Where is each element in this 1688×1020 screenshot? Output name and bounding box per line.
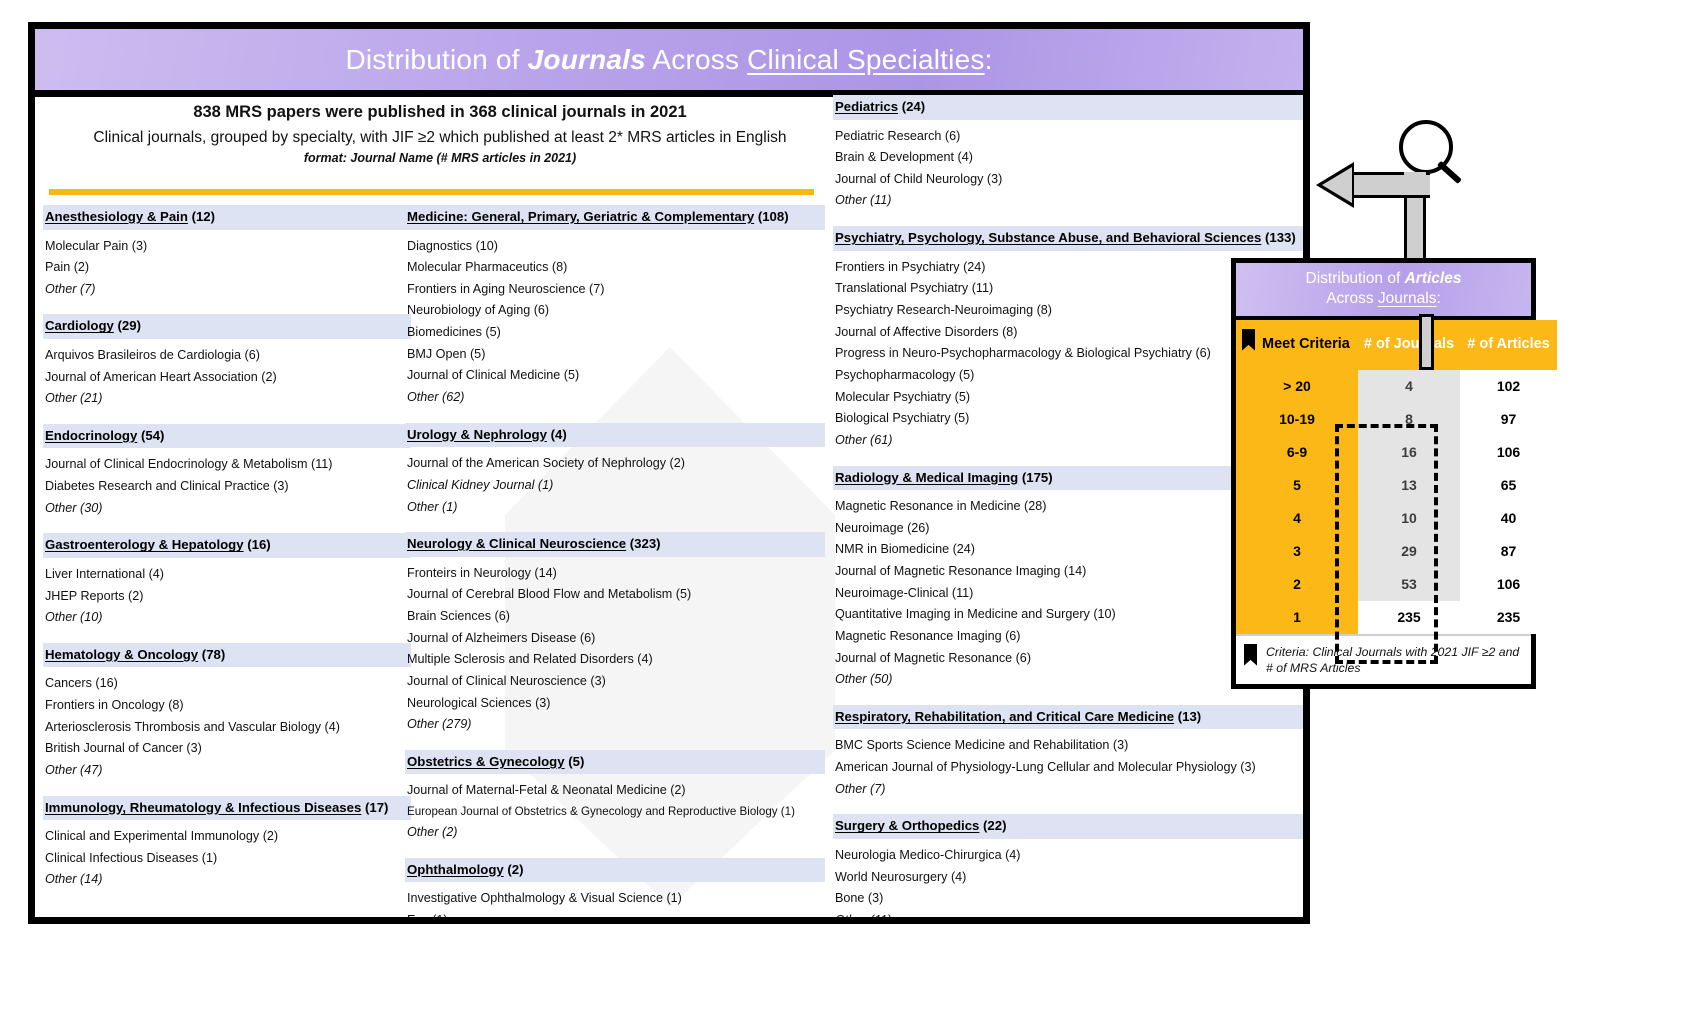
journal-entry: Other (7) [45,279,411,301]
journal-entry: Investigative Ophthalmology & Visual Sci… [407,888,825,910]
cell-meet-criteria: 1 [1236,601,1358,634]
journal-list: Arquivos Brasileiros de Cardiologia (6)J… [43,339,411,410]
inset-title: Distribution of Articles Across Journals… [1236,263,1531,320]
journal-entry: Bone (3) [835,888,1303,910]
page-title: Distribution of Journals Across Clinical… [345,44,992,76]
specialty-section: Ophthalmology (2)Investigative Ophthalmo… [405,858,825,924]
table-row: 32987 [1236,535,1557,568]
journal-entry: Journal of Alzheimers Disease (6) [407,628,825,650]
specialty-count: (133) [1261,230,1295,245]
specialty-section: Immunology, Rheumatology & Infectious Di… [43,796,411,891]
specialty-header: Cardiology (29) [43,314,411,339]
cell-num-articles: 65 [1460,469,1557,502]
journal-entry: Pediatric Research (6) [835,126,1303,148]
specialty-section: Neurology & Clinical Neuroscience (323)F… [405,532,825,736]
specialty-name: Psychiatry, Psychology, Substance Abuse,… [835,230,1261,245]
articles-distribution-panel: Distribution of Articles Across Journals… [1231,258,1536,689]
specialty-name: Hematology & Oncology [45,647,198,662]
journal-entry: Cancers (16) [45,673,411,695]
specialty-count: (24) [898,99,925,114]
journal-entry: British Journal of Cancer (3) [45,738,411,760]
specialty-count: (16) [244,537,271,552]
table-row: 51365 [1236,469,1557,502]
column-header-meet-criteria: Meet Criteria [1236,320,1358,370]
specialty-name: Anesthesiology & Pain [45,209,188,224]
journal-entry: Molecular Pharmaceutics (8) [407,257,825,279]
specialty-name: Immunology, Rheumatology & Infectious Di… [45,800,361,815]
specialty-section: Pediatrics (24)Pediatric Research (6)Bra… [833,95,1303,212]
journal-list: Neurologia Medico-Chirurgica (4)World Ne… [833,839,1303,924]
poster-panel: Distribution of Journals Across Clinical… [28,22,1310,924]
journal-entry: Other (7) [835,779,1303,801]
journal-entry: Pain (2) [45,257,411,279]
specialty-column-1: Anesthesiology & Pain (12)Molecular Pain… [43,205,411,905]
cell-num-journals: 13 [1358,469,1460,502]
journal-list: Clinical and Experimental Immunology (2)… [43,820,411,891]
specialty-name: Obstetrics & Gynecology [407,754,565,769]
specialty-count: (4) [547,427,567,442]
journal-list: BMC Sports Science Medicine and Rehabili… [833,729,1303,800]
journal-list: Fronteirs in Neurology (14)Journal of Ce… [405,557,825,736]
table-row: 1235235 [1236,601,1557,634]
journal-entry: Arquivos Brasileiros de Cardiologia (6) [45,345,411,367]
specialty-section: Urology & Nephrology (4)Journal of the A… [405,423,825,518]
table-row: 10-19897 [1236,403,1557,436]
specialty-count: (78) [198,647,225,662]
journal-list: Journal of the American Society of Nephr… [405,447,825,518]
journal-entry: Brain Sciences (6) [407,606,825,628]
specialty-count: (13) [1174,709,1201,724]
title-mid: Across [646,44,747,75]
specialty-section: Medicine: General, Primary, Geriatric & … [405,205,825,409]
inset-title-mid: Across [1326,290,1378,307]
journal-entry: Other (1) [407,497,825,519]
journal-entry: Frontiers in Oncology (8) [45,695,411,717]
cell-meet-criteria: 6-9 [1236,436,1358,469]
title-post: : [985,44,993,75]
specialty-name: Endocrinology [45,428,137,443]
specialty-header: Neurology & Clinical Neuroscience (323) [405,532,825,557]
journal-entry: Molecular Pain (3) [45,236,411,258]
cell-num-articles: 235 [1460,601,1557,634]
specialty-header: Endocrinology (54) [43,424,411,449]
specialty-count: (5) [565,754,585,769]
table-row: 253106 [1236,568,1557,601]
specialty-name: Respiratory, Rehabilitation, and Critica… [835,709,1174,724]
journal-entry: Other (21) [45,388,411,410]
journal-list: Diagnostics (10)Molecular Pharmaceutics … [405,230,825,409]
journal-list: Pediatric Research (6)Brain & Developmen… [833,120,1303,213]
header-divider-tab [1419,314,1434,370]
callout-arrow-head-fill [1322,167,1352,203]
journal-entry: Journal of Clinical Endocrinology & Meta… [45,454,411,476]
journal-entry: Neurobiology of Aging (6) [407,300,825,322]
specialty-count: (108) [754,209,788,224]
table-row: > 204102 [1236,370,1557,403]
cell-num-articles: 102 [1460,370,1557,403]
specialty-count: (323) [626,536,660,551]
table-header-row: Meet Criteria # of Journals # of Article… [1236,320,1557,370]
specialty-header: Urology & Nephrology (4) [405,423,825,448]
specialty-name: Medicine: General, Primary, Geriatric & … [407,209,754,224]
journal-entry: Journal of Maternal-Fetal & Neonatal Med… [407,780,825,802]
cell-num-articles: 87 [1460,535,1557,568]
specialty-header: Respiratory, Rehabilitation, and Critica… [833,705,1303,730]
title-underlined: Clinical Specialties [747,44,984,75]
poster-body: 838 MRS papers were published in 368 cli… [35,97,1303,917]
cell-num-journals: 8 [1358,403,1460,436]
cell-meet-criteria: 4 [1236,502,1358,535]
specialty-name: Gastroenterology & Hepatology [45,537,244,552]
journal-list: Investigative Ophthalmology & Visual Sci… [405,882,825,924]
cell-num-journals: 235 [1358,601,1460,634]
title-emphasis: Journals [528,44,646,75]
inset-title-emphasis: Articles [1405,270,1462,287]
journal-entry: Fronteirs in Neurology (14) [407,563,825,585]
journal-entry: Multiple Sclerosis and Related Disorders… [407,649,825,671]
column-header-articles: # of Articles [1460,320,1557,370]
intro-line-1: 838 MRS papers were published in 368 cli… [45,103,835,122]
journal-entry: American Journal of Physiology-Lung Cell… [835,757,1303,779]
cell-meet-criteria: > 20 [1236,370,1358,403]
specialty-section: Endocrinology (54)Journal of Clinical En… [43,424,411,519]
cell-num-articles: 40 [1460,502,1557,535]
journal-entry: Other (279) [407,714,825,736]
journal-entry: World Neurosurgery (4) [835,867,1303,889]
journal-entry: Neurological Sciences (3) [407,693,825,715]
cell-num-journals: 4 [1358,370,1460,403]
specialty-header: Anesthesiology & Pain (12) [43,205,411,230]
table-row: 6-916106 [1236,436,1557,469]
cell-num-journals: 10 [1358,502,1460,535]
journal-entry: Diabetes Research and Clinical Practice … [45,476,411,498]
journal-entry: BMJ Open (5) [407,344,825,366]
specialty-count: (175) [1018,470,1052,485]
bookmark-icon-footnote [1244,644,1257,666]
cell-num-journals: 53 [1358,568,1460,601]
journal-entry: JHEP Reports (2) [45,586,411,608]
journal-list: Journal of Maternal-Fetal & Neonatal Med… [405,774,825,843]
cell-meet-criteria: 2 [1236,568,1358,601]
specialty-header: Immunology, Rheumatology & Infectious Di… [43,796,411,821]
journal-entry: Journal of the American Society of Nephr… [407,453,825,475]
specialty-count: (2) [504,862,524,877]
articles-table-body: > 20410210-198976-9161065136541040329872… [1236,370,1557,634]
journal-list: Cancers (16)Frontiers in Oncology (8)Art… [43,667,411,781]
column-header-meet-criteria-label: Meet Criteria [1262,336,1350,352]
specialty-count: (22) [979,818,1006,833]
journal-entry: BMC Sports Science Medicine and Rehabili… [835,735,1303,757]
inset-footnote-text: Criteria: Clinical Journals with 2021 JI… [1266,645,1519,675]
cell-num-articles: 106 [1460,568,1557,601]
specialty-count: (12) [188,209,215,224]
specialty-section: Surgery & Orthopedics (22)Neurologia Med… [833,814,1303,924]
journal-entry: Journal of Clinical Medicine (5) [407,365,825,387]
intro-line-2: Clinical journals, grouped by specialty,… [45,129,835,147]
specialty-header: Surgery & Orthopedics (22) [833,814,1303,839]
journal-list: Journal of Clinical Endocrinology & Meta… [43,448,411,519]
specialty-name: Surgery & Orthopedics [835,818,979,833]
specialty-count: (54) [137,428,164,443]
journal-entry: Neurologia Medico-Chirurgica (4) [835,845,1303,867]
callout-arrow-corner [1404,172,1426,178]
title-pre: Distribution of [345,44,527,75]
gold-divider-rule [49,189,814,195]
specialty-name: Cardiology [45,318,114,333]
journal-entry: Journal of Clinical Neuroscience (3) [407,671,825,693]
specialty-section: Hematology & Oncology (78)Cancers (16)Fr… [43,643,411,782]
table-row: 41040 [1236,502,1557,535]
journal-entry: Other (62) [407,387,825,409]
journal-list: Liver International (4)JHEP Reports (2)O… [43,558,411,629]
specialty-header: Pediatrics (24) [833,95,1303,120]
journal-entry: Brain & Development (4) [835,147,1303,169]
journal-entry: Journal of Cerebral Blood Flow and Metab… [407,584,825,606]
journal-entry: Diagnostics (10) [407,236,825,258]
cell-meet-criteria: 5 [1236,469,1358,502]
specialty-header: Medicine: General, Primary, Geriatric & … [405,205,825,230]
journal-entry: Journal of Child Neurology (3) [835,169,1303,191]
specialty-header: Hematology & Oncology (78) [43,643,411,668]
cell-meet-criteria: 3 [1236,535,1358,568]
journal-entry: Other (14) [45,869,411,891]
journal-entry: Other (2) [407,822,825,844]
articles-table-head: Meet Criteria # of Journals # of Article… [1236,320,1557,370]
journal-entry: Other (10) [45,607,411,629]
specialty-section: Anesthesiology & Pain (12)Molecular Pain… [43,205,411,300]
journal-entry: Arteriosclerosis Thrombosis and Vascular… [45,717,411,739]
specialty-count: (29) [114,318,141,333]
specialty-section: Gastroenterology & Hepatology (16)Liver … [43,533,411,628]
journal-entry: Other (11) [835,910,1303,924]
journal-entry: Clinical and Experimental Immunology (2) [45,826,411,848]
journal-entry: Other (11) [835,190,1303,212]
journal-entry: Clinical Kidney Journal (1) [407,475,825,497]
intro-format-note: format: Journal Name (# MRS articles in … [45,151,835,165]
journal-entry: Biomedicines (5) [407,322,825,344]
specialty-name: Neurology & Clinical Neuroscience [407,536,626,551]
cell-meet-criteria: 10-19 [1236,403,1358,436]
cell-num-journals: 29 [1358,535,1460,568]
specialty-header: Psychiatry, Psychology, Substance Abuse,… [833,226,1303,251]
journal-entry: Other (30) [45,498,411,520]
poster-title-bar: Distribution of Journals Across Clinical… [35,29,1303,97]
specialty-section: Cardiology (29)Arquivos Brasileiros de C… [43,314,411,409]
inset-title-post: : [1436,290,1440,307]
magnifier-handle [1437,161,1462,184]
specialty-header: Obstetrics & Gynecology (5) [405,750,825,775]
cell-num-journals: 16 [1358,436,1460,469]
specialty-name: Ophthalmology [407,862,504,877]
cell-num-articles: 97 [1460,403,1557,436]
bookmark-icon [1242,329,1255,351]
specialty-section: Obstetrics & Gynecology (5)Journal of Ma… [405,750,825,844]
journal-entry: Frontiers in Aging Neuroscience (7) [407,279,825,301]
column-header-journals: # of Journals [1358,320,1460,370]
specialty-column-2: Medicine: General, Primary, Geriatric & … [405,205,825,924]
inset-footnote: Criteria: Clinical Journals with 2021 JI… [1236,634,1531,681]
journal-entry: Journal of American Heart Association (2… [45,367,411,389]
specialty-header: Ophthalmology (2) [405,858,825,883]
specialty-section: Respiratory, Rehabilitation, and Critica… [833,705,1303,800]
journal-entry: Liver International (4) [45,564,411,586]
articles-table: Meet Criteria # of Journals # of Article… [1236,320,1557,634]
intro-block: 838 MRS papers were published in 368 cli… [45,103,835,165]
journal-entry: Clinical Infectious Diseases (1) [45,848,411,870]
specialty-name: Urology & Nephrology [407,427,547,442]
specialty-count: (17) [361,800,388,815]
specialty-name: Radiology & Medical Imaging [835,470,1018,485]
journal-list: Molecular Pain (3)Pain (2)Other (7) [43,230,411,301]
journal-entry: European Journal of Obstetrics & Gynecol… [407,802,825,822]
cell-num-articles: 106 [1460,436,1557,469]
journal-entry: Other (47) [45,760,411,782]
journal-entry: Eye (1) [407,910,825,924]
magnifier-icon [1395,118,1475,198]
specialty-name: Pediatrics [835,99,898,114]
inset-title-pre: Distribution of [1306,270,1405,287]
inset-title-underlined: Journals [1378,290,1437,307]
specialty-header: Gastroenterology & Hepatology (16) [43,533,411,558]
